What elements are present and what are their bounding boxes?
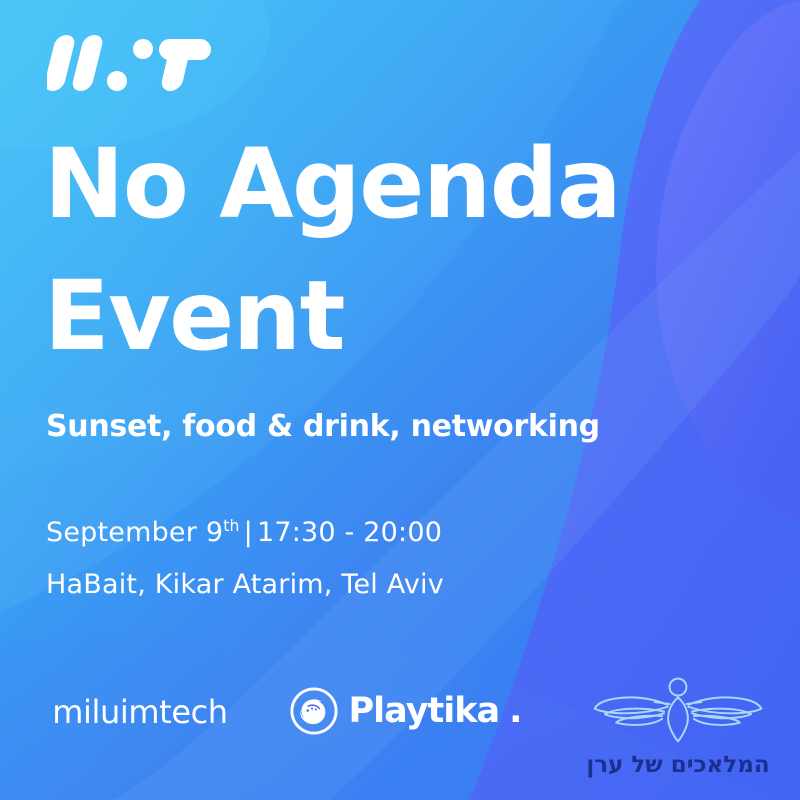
poster-headline: No Agenda Event xyxy=(44,118,724,383)
event-venue: HaBait, Kikar Atarim, Tel Aviv xyxy=(46,569,444,600)
date-ordinal-suffix: th xyxy=(223,516,239,535)
sponsor-row: miluimtech Playtika. xyxy=(0,660,800,800)
event-time-range: 17:30 - 20:00 xyxy=(257,517,442,548)
event-poster: No Agenda Event Sunset, food & drink, ne… xyxy=(0,0,800,800)
event-date: September 9 xyxy=(46,517,223,548)
detail-separator: | xyxy=(240,517,257,548)
poster-content: No Agenda Event Sunset, food & drink, ne… xyxy=(0,0,800,800)
sponsor-playtika: Playtika. xyxy=(300,680,510,742)
miluimtech-logomark xyxy=(47,33,212,93)
event-datetime: September 9th|17:30 - 20:00 xyxy=(46,517,442,548)
sponsor-playtika-dot: . xyxy=(509,691,521,731)
sponsor-miluimtech: miluimtech xyxy=(40,688,240,736)
sponsor-angels-label: המלאכים של ערן xyxy=(586,752,769,778)
sponsor-miluimtech-label: miluimtech xyxy=(52,693,227,731)
sponsor-angels-of-eran: המלאכים של ערן xyxy=(578,666,778,784)
playtika-panther-icon xyxy=(289,686,339,736)
angel-wings-icon xyxy=(589,673,767,748)
poster-subtitle: Sunset, food & drink, networking xyxy=(46,409,600,444)
sponsor-playtika-label: Playtika xyxy=(349,691,500,731)
